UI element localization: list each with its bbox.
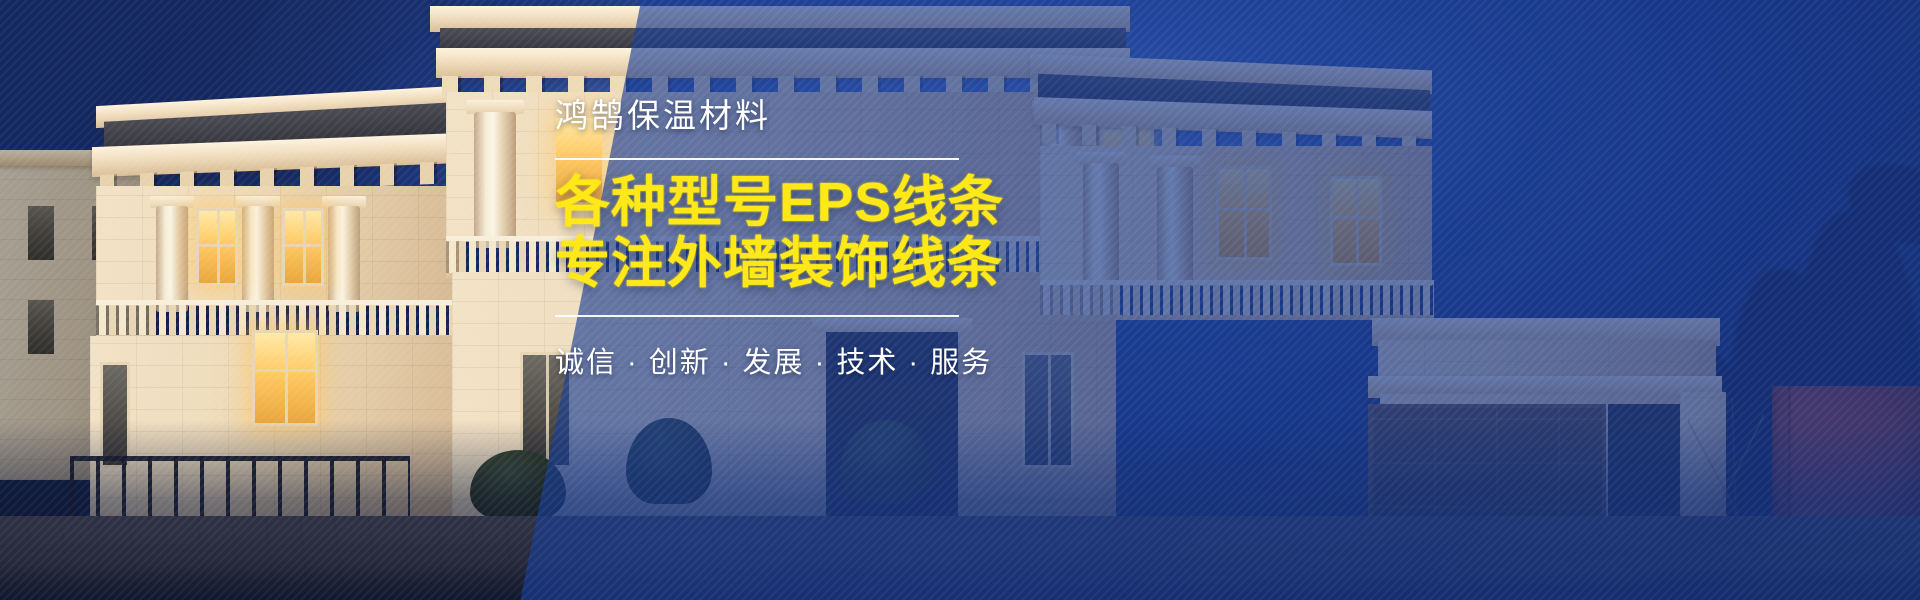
window-mullion [285,333,288,423]
villa-left-column-1 [156,206,188,312]
hero-banner: 鸿鹄保温材料 各种型号EPS线条 专注外墙装饰线条 诚信 · 创新 · 发展 ·… [0,0,1920,600]
window-mullion [255,369,315,372]
tagline: 诚信 · 创新 · 发展 · 技术 · 服务 [555,339,1025,381]
window-mullion [285,244,321,247]
brand-name: 鸿鹄保温材料 [555,96,1025,136]
villa-left-window-lit-2 [282,208,324,286]
villa-left-window-lit-1 [196,208,238,286]
divider-top [555,158,959,160]
villa-left-lower-window-lit [252,330,318,426]
left-background-window-3 [28,300,54,354]
left-background-window-1 [28,206,54,260]
villa-center-column-1 [474,112,516,248]
headline-line-1: 各种型号EPS线条 [555,172,1025,234]
divider-bottom [555,315,959,317]
villa-left-column-2 [242,206,274,312]
villa-left-column-3 [328,206,360,312]
window-mullion [199,244,235,247]
headline-line-2: 专注外墙装饰线条 [555,233,1025,295]
banner-text-block: 鸿鹄保温材料 各种型号EPS线条 专注外墙装饰线条 诚信 · 创新 · 发展 ·… [555,96,1025,381]
